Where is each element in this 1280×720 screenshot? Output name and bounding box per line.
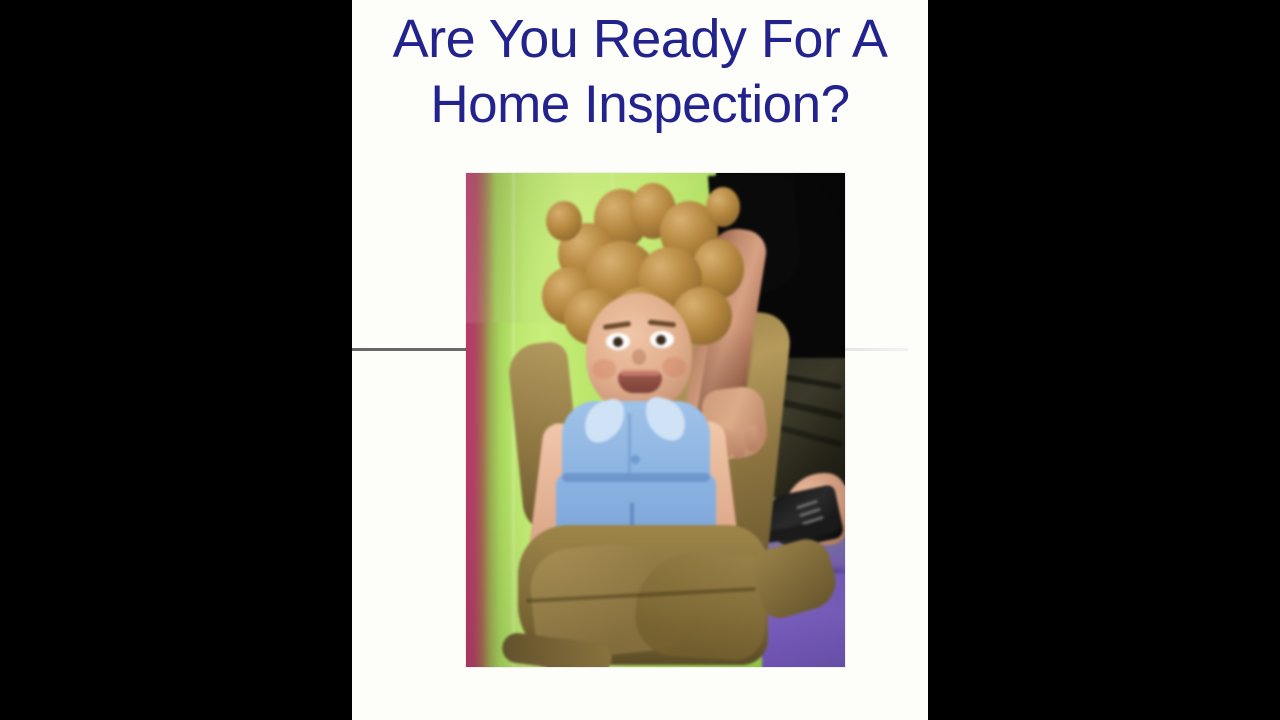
slide-title: Are You Ready For A Home Inspection?: [352, 6, 928, 138]
photo-layer-softening: [466, 173, 845, 667]
letterbox-left: [0, 0, 352, 720]
title-line-1: Are You Ready For A: [352, 6, 928, 72]
slide-viewer: Are You Ready For A Home Inspection?: [0, 0, 1280, 720]
slide-photo: [466, 173, 845, 667]
slide-content: Are You Ready For A Home Inspection?: [352, 0, 928, 720]
title-line-2: Home Inspection?: [352, 72, 928, 138]
letterbox-right: [928, 0, 1280, 720]
